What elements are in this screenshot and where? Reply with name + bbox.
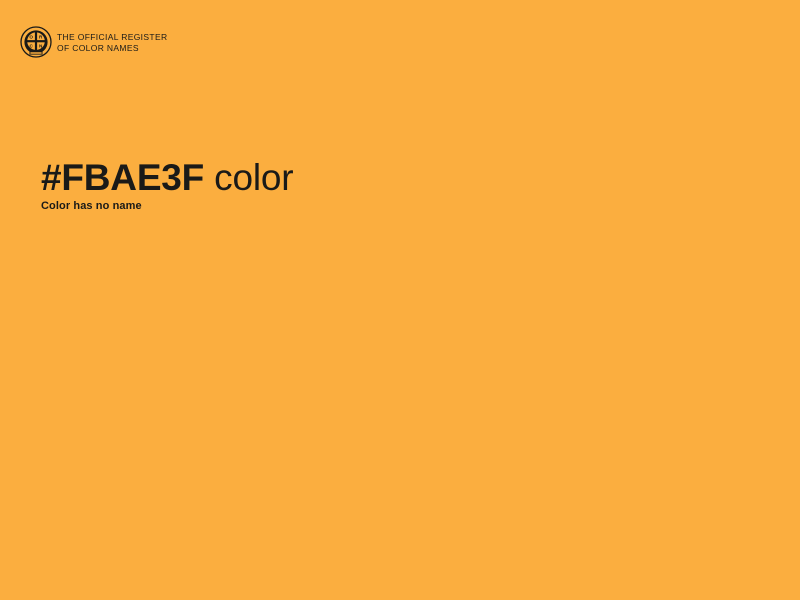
svg-text:O: O [29, 35, 33, 40]
brand-line-1: THE OFFICIAL REGISTER [57, 32, 167, 43]
brand-line-2: OF COLOR NAMES [57, 43, 167, 54]
color-page: O R C N THE OFFICIAL REGISTER OF COLOR N… [0, 0, 800, 600]
brand-text: THE OFFICIAL REGISTER OF COLOR NAMES [57, 31, 167, 53]
brand-lockup[interactable]: O R C N THE OFFICIAL REGISTER OF COLOR N… [20, 26, 167, 58]
color-name-status: Color has no name [41, 199, 142, 213]
heading-suffix: color [214, 157, 293, 198]
register-seal-icon: O R C N [20, 26, 52, 58]
color-hex-value: #FBAE3F [41, 157, 204, 198]
color-word [204, 157, 214, 198]
page-title: #FBAE3F color [41, 156, 293, 200]
